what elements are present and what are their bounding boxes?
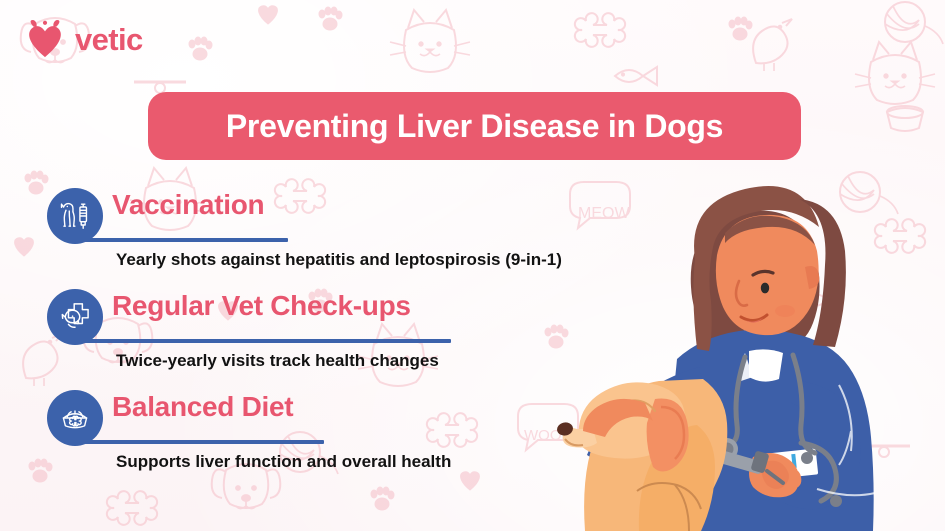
- dog-food-bowl-icon: [47, 390, 103, 446]
- feature-description: Yearly shots against hepatitis and lepto…: [116, 250, 562, 270]
- feature-description: Twice-yearly visits track health changes: [116, 351, 439, 371]
- title-banner: Preventing Liver Disease in Dogs: [148, 92, 801, 160]
- feature-underline: [70, 339, 451, 343]
- heart-paw-logo-icon: [24, 19, 66, 59]
- feature-underline: [70, 238, 288, 242]
- dog-medical-cross-icon: [47, 289, 103, 345]
- feature-underline: [70, 440, 324, 444]
- feature-item-vaccination: Vaccination Yearly shots against hepatit…: [0, 188, 620, 289]
- page-title: Preventing Liver Disease in Dogs: [226, 108, 723, 145]
- feature-heading: Regular Vet Check-ups: [112, 290, 411, 322]
- feature-description: Supports liver function and overall heal…: [116, 452, 451, 472]
- brand-logo[interactable]: vetic: [24, 19, 143, 59]
- feature-item-vet-checkups: Regular Vet Check-ups Twice-yearly visit…: [0, 289, 620, 390]
- poster-canvas: MEOW WOOF: [0, 0, 945, 531]
- dog-syringe-icon: [47, 188, 103, 244]
- feature-heading: Balanced Diet: [112, 391, 293, 423]
- brand-name: vetic: [75, 24, 143, 55]
- feature-list: Vaccination Yearly shots against hepatit…: [0, 188, 620, 491]
- feature-heading: Vaccination: [112, 189, 264, 221]
- feature-item-balanced-diet: Balanced Diet Supports liver function an…: [0, 390, 620, 491]
